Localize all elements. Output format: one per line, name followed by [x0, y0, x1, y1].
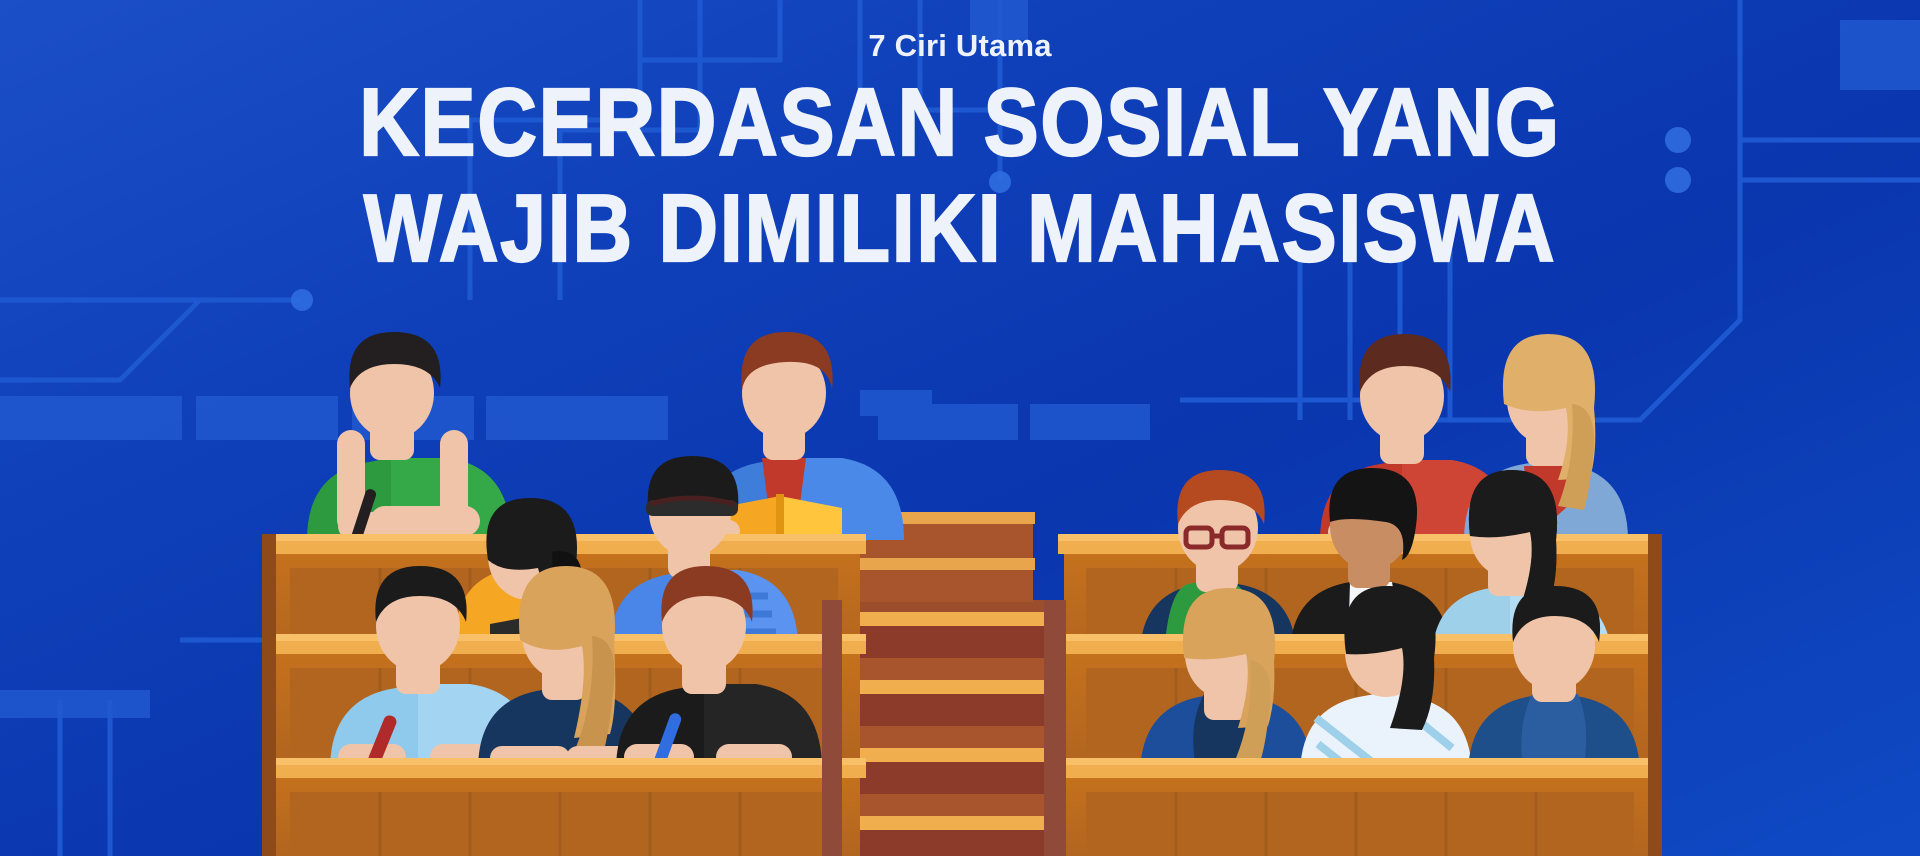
banner-kicker: 7 Ciri Utama	[0, 30, 1920, 61]
headline-block: 7 Ciri Utama KECERDASAN SOSIAL YANG WAJI…	[0, 0, 1920, 275]
left-bench-block	[262, 332, 904, 856]
desk-right-endcap	[1648, 534, 1662, 856]
center-staircase	[840, 512, 1048, 856]
stair-side-shadow-right	[1044, 600, 1066, 856]
right-bench-block	[1058, 334, 1662, 856]
banner-canvas: 7 Ciri Utama KECERDASAN SOSIAL YANG WAJI…	[0, 0, 1920, 856]
student-green-shirt	[307, 332, 511, 544]
desk-row-3-right	[1058, 758, 1662, 856]
title-line-1: KECERDASAN SOSIAL YANG	[134, 77, 1785, 169]
desk-row-3-left	[262, 758, 866, 856]
desk-left-endcap	[262, 534, 276, 856]
student-blue-reading	[700, 332, 904, 554]
title-line-2: WAJIB DIMILIKI MAHASISWA	[134, 183, 1785, 275]
stair-side-shadow-left	[822, 600, 842, 856]
banner-title: KECERDASAN SOSIAL YANG WAJIB DIMILIKI MA…	[0, 77, 1920, 275]
